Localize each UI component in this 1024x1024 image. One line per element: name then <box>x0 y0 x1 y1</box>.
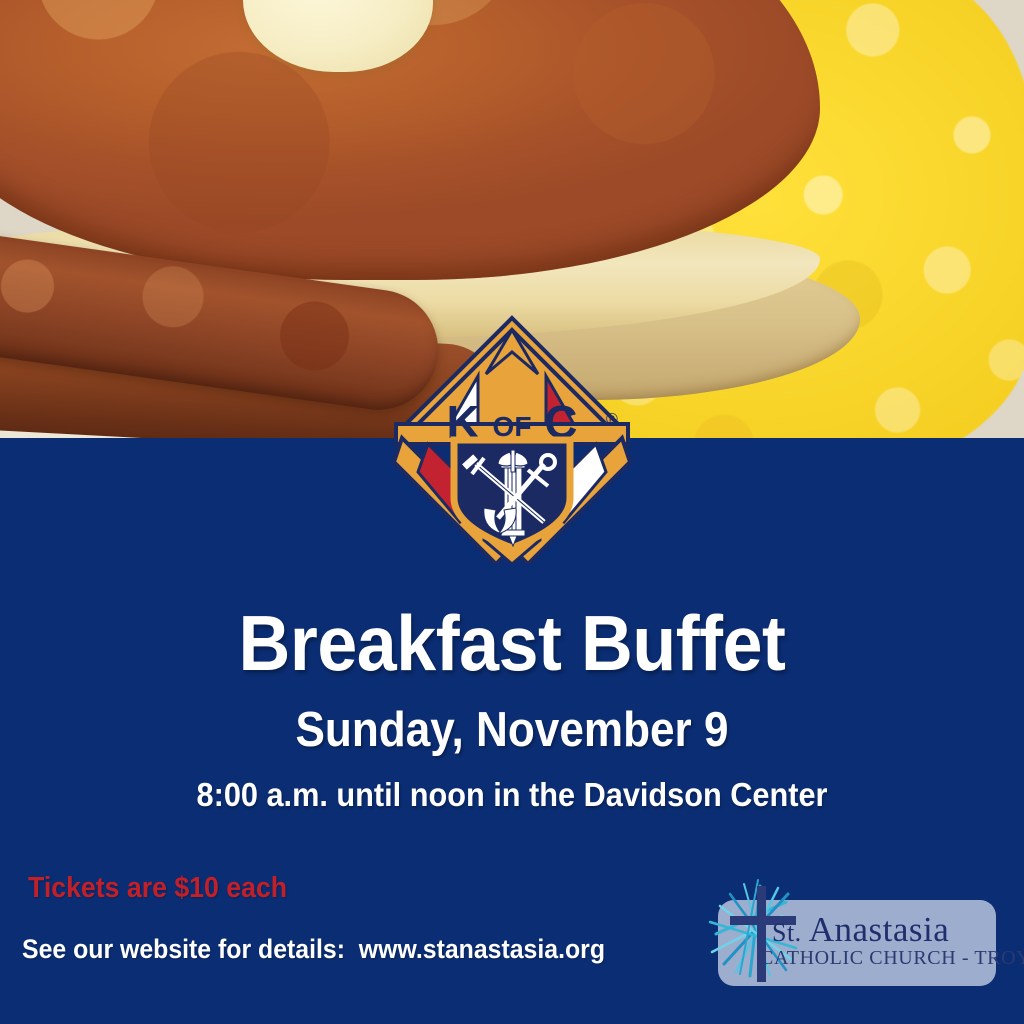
event-date: Sunday, November 9 <box>51 706 973 755</box>
page-title: Breakfast Buffet <box>41 604 983 682</box>
parish-logo-tagline: CATHOLIC CHURCH - TROY <box>760 948 998 968</box>
registered-trademark-icon: ® <box>606 411 618 428</box>
poster-canvas: K OF C ® <box>0 0 1024 1024</box>
parish-logo-name: St. Anastasia <box>772 912 998 947</box>
website-text[interactable]: See our website for details: www.stanast… <box>22 934 605 965</box>
event-time-location: 8:00 a.m. until noon in the Davidson Cen… <box>36 778 988 811</box>
parish-logo-st: St. <box>772 918 809 947</box>
knights-of-columbus-emblem-icon: K OF C ® <box>392 312 632 564</box>
parish-logo-main: Anastasia <box>809 910 950 949</box>
ticket-price-text: Tickets are $10 each <box>28 872 287 905</box>
